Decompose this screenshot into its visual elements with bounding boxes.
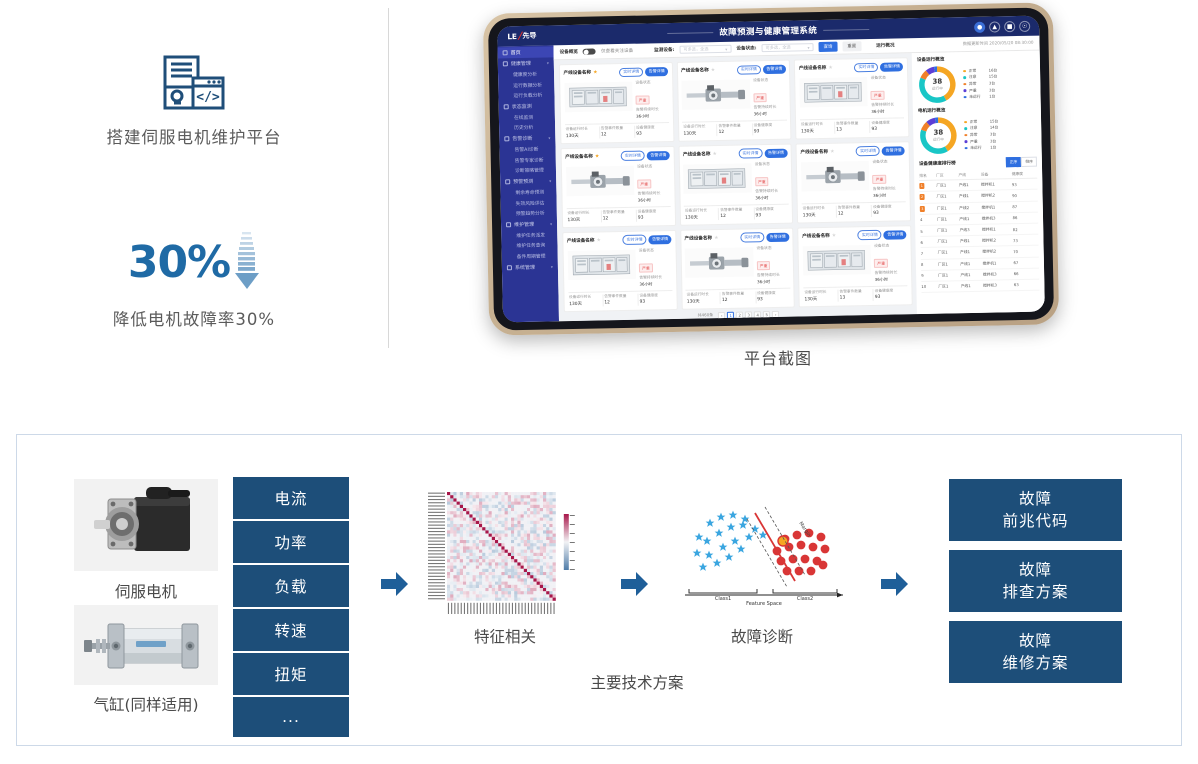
legend-value: 3台 [990, 138, 996, 144]
stat-value: 93 [754, 129, 787, 135]
legend-label: 正常 [970, 118, 987, 124]
table-row[interactable]: 10 厂区1 产线1 搅拌机3 63 [921, 279, 1039, 293]
favorite-star-icon[interactable]: ★ [714, 235, 719, 241]
svg-text:</>: </> [196, 90, 220, 105]
card-title: 产线设备名称 [565, 154, 593, 161]
health-cell: 93 [1012, 178, 1038, 190]
rank-cell: 1 [919, 180, 936, 192]
legend-dot [963, 89, 966, 92]
motor-donut-row: 38 运行中 正常 15台 注意 14台 异常 3台 严重 3台 未运行 1台 [918, 114, 1037, 156]
sidebar-label: 历史分析 [514, 124, 533, 131]
card-status: 设备状态 严重 告警持续时长 36小时 [753, 76, 787, 118]
heart-icon [503, 61, 508, 66]
control-cabinet-photo [799, 75, 868, 109]
toggle-label: 仅查看关注设备 [601, 48, 633, 55]
donut-value: 38 [933, 129, 943, 136]
sidebar-label: 状态监测 [512, 103, 532, 110]
rank-cell: 7 [921, 247, 938, 259]
stat-value: 130天 [804, 296, 837, 303]
card-title: 产线设备名称 [802, 233, 830, 240]
alarm-detail-button[interactable]: 告警详情 [882, 146, 905, 155]
device-cell: 搅拌机3 [983, 268, 1014, 280]
card-body: 设备状态 严重 告警持续时长 36小时 [685, 244, 790, 287]
rank-cell: 5 [920, 225, 937, 237]
app-body: 首页 健康管理 ▾ 健康度分析 运行数据分析 运行负载分析 [497, 36, 1044, 323]
stat-value: 130天 [569, 301, 602, 308]
legend-label: 异常 [969, 81, 986, 87]
card-title: 产线设备名称 [799, 65, 827, 72]
card-title: 产线设备名称 [567, 238, 595, 245]
sidebar-label: 预警预测 [513, 178, 533, 185]
card-stat: 设备运行时长 130天 [802, 206, 837, 219]
card-body: 设备状态 严重 告警持续时长 36小时 [683, 160, 788, 203]
ranking-tabs[interactable]: 正序 倒序 [1006, 157, 1037, 168]
legend-item: 未运行 1台 [965, 144, 1037, 152]
legend-dot [964, 96, 967, 99]
tech-pipeline-panel: 伺服电机 气缸(同样适用) 电流 [16, 434, 1182, 746]
duration-label: 告警持续时长 [754, 104, 787, 111]
home-icon[interactable]: ▲ [989, 21, 1000, 32]
donut-label: 运行中 [933, 137, 944, 142]
stat-label: 设备运行时长 [566, 127, 599, 133]
total-count: 共460条 [698, 313, 714, 319]
motor-overview-chart: 电机运行概览 38 [918, 106, 1037, 156]
device-donut-legend: 正常 16台 注意 15台 异常 3台 严重 3台 未运行 1台 [963, 66, 1036, 100]
page-1[interactable]: 1 [727, 312, 734, 319]
factory-cell: 厂区1 [937, 213, 960, 225]
favorite-star-icon[interactable]: ★ [711, 67, 716, 73]
ranking-tab-asc[interactable]: 正序 [1006, 157, 1022, 167]
card-status: 设备状态 严重 告警持续时长 36小时 [637, 163, 671, 205]
stat-label: 告警事件数量 [722, 292, 755, 298]
live-detail-button[interactable]: 实时详情 [854, 62, 878, 72]
status-badge: 严重 [757, 261, 771, 270]
favorite-star-icon[interactable]: ★ [828, 65, 833, 71]
favorite-star-icon[interactable]: ★ [830, 149, 835, 155]
wrench-icon [506, 222, 511, 227]
output-line-2: 维修方案 [1002, 652, 1068, 674]
duration-label: 告警持续时长 [638, 190, 671, 197]
duration-label: 告警持续时长 [757, 272, 790, 279]
factory-cell: 厂区1 [937, 236, 960, 248]
alarm-detail-button[interactable]: 告警详情 [648, 235, 671, 244]
live-detail-button[interactable]: 实时详情 [856, 146, 880, 156]
sidebar-label: 维护任务派发 [516, 231, 545, 239]
ranking-body: 1 厂区1 产线1 搅拌机1 932 厂区1 产线1 搅拌机2 903 厂区1 … [919, 178, 1039, 292]
stat-label: 设备健康度 [755, 207, 788, 213]
live-detail-button[interactable]: 实时详情 [740, 233, 764, 243]
control-cabinet-photo [802, 243, 871, 277]
card-header: 产线设备名称 ★ 实时详情 告警详情 [799, 62, 904, 74]
user-icon[interactable]: ● [974, 21, 985, 32]
card-stat: 告警事件数量 13 [835, 121, 870, 134]
line-cell: 产线1 [960, 247, 983, 259]
pneumatic-cylinder-caption: 气缸(同样适用) [66, 693, 226, 715]
health-cell: 73 [1013, 234, 1039, 246]
duration-value: 36小时 [754, 111, 787, 118]
chevron-down-icon: ▾ [547, 61, 549, 66]
feature-correlation-caption: 特征相关 [425, 625, 585, 647]
arrow-down-icon [234, 230, 260, 296]
card-stat: 告警事件数量 12 [837, 205, 872, 218]
device-card[interactable]: 产线设备名称 ★ 实时详情 告警详情 设备状态 严重 告警持续时长 36小时 设… [559, 62, 674, 144]
stat-label: 设备运行时长 [803, 206, 836, 212]
health-cell: 67 [1013, 257, 1039, 269]
health-cell: 66 [1014, 268, 1040, 280]
stat-label: 告警事件数量 [838, 205, 871, 211]
favorite-star-icon[interactable]: ★ [712, 151, 717, 157]
card-stat: 设备运行时长 130天 [803, 290, 838, 303]
bell-icon[interactable]: ■ [1004, 21, 1015, 32]
chevron-down-icon: ▾ [725, 46, 727, 51]
duration-value: 36小时 [873, 193, 906, 200]
chevron-down-icon: ▾ [549, 179, 551, 184]
alarm-detail-button[interactable]: 告警详情 [645, 67, 668, 76]
stat-label: 设备运行时长 [683, 125, 716, 131]
home-icon [503, 50, 508, 55]
device-card[interactable]: 产线设备名称 ★ 实时详情 告警详情 设备状态 严重 告警持续时长 36小时 设… [680, 228, 795, 310]
legend-dot [965, 147, 968, 150]
rank-value: 10 [921, 284, 926, 289]
stat-value: 12 [603, 216, 636, 222]
duration-label: 告警持续时长 [755, 188, 788, 195]
stat-label: 设备运行时长 [567, 211, 600, 217]
legend-label: 严重 [969, 87, 986, 93]
card-status: 设备状态 严重 告警持续时长 36小时 [639, 247, 673, 289]
card-stat: 设备健康度 93 [870, 121, 904, 134]
stat-label: 设备运行时长 [687, 293, 720, 299]
device-card[interactable]: 产线设备名称 ★ 实时详情 告警详情 设备状态 严重 告警持续时长 36小时 设… [676, 60, 791, 142]
chevron-down-icon: ▾ [551, 264, 553, 269]
factory-cell: 厂区1 [936, 180, 959, 192]
device-card[interactable]: 产线设备名称 ★ 实时详情 告警详情 设备状态 严重 告警持续时长 36小时 设… [794, 57, 909, 139]
alarm-detail-button[interactable]: 告警详情 [763, 65, 786, 74]
alarm-detail-button[interactable]: 告警详情 [647, 151, 670, 160]
card-stats: 设备运行时长 130天 告警事件数量 13 设备健康度 93 [800, 117, 905, 135]
card-stat: 设备健康度 93 [753, 123, 787, 136]
tablet-mockup: LE / 先导 故障预测与健康管理系统 ● ▲ ■ [478, 2, 1078, 342]
stat-value: 130天 [567, 217, 600, 224]
donut-center: 38 运行中 [918, 115, 959, 156]
live-detail-button[interactable]: 实时详情 [622, 235, 646, 245]
card-stats: 设备运行时长 130天 告警事件数量 12 设备健康度 93 [565, 122, 670, 140]
overview-pane: 设备运行概览 38 [912, 51, 1045, 315]
sidebar-label: 健康管理 [511, 60, 531, 67]
legend-value: 1台 [990, 145, 996, 151]
main-content: 产线设备名称 ★ 实时详情 告警详情 设备状态 严重 告警持续时长 36小时 设… [554, 51, 1045, 322]
stat-value: 130天 [801, 128, 834, 135]
device-cell: 搅拌机3 [983, 280, 1014, 292]
platform-stat-block: </> 搭建伺服电机维护平台 [0, 52, 388, 148]
device-donut: 38 运行中 [917, 64, 958, 105]
favorite-star-icon[interactable]: ★ [593, 70, 598, 76]
duration-value: 36小时 [638, 197, 671, 204]
duration-label: 告警持续时长 [871, 102, 904, 109]
stat-value: 12 [722, 298, 755, 304]
arrow-right-icon [881, 571, 909, 601]
sidebar-label: 首页 [511, 49, 521, 56]
stat-label: 设备健康度 [871, 121, 904, 127]
status-label: 设备状态 [872, 158, 905, 165]
donut-value: 38 [932, 78, 942, 85]
card-title: 产线设备名称 [800, 149, 828, 156]
live-detail-button[interactable]: 实时详情 [738, 149, 762, 159]
duration-value: 36小时 [639, 281, 672, 288]
legend-value: 1台 [989, 94, 995, 100]
legend-value: 15台 [989, 74, 998, 80]
line-cell: 产线1 [960, 258, 983, 270]
page-5[interactable]: 5 [763, 311, 770, 318]
favorite-star-icon[interactable]: ★ [832, 233, 837, 239]
output-line-1: 故障 [1019, 630, 1052, 652]
factory-cell: 厂区1 [938, 258, 961, 270]
status-label: 设备状态 [756, 244, 789, 251]
health-cell: 87 [1012, 201, 1038, 213]
page-prev[interactable]: ‹ [718, 312, 725, 319]
card-header: 产线设备名称 ★ 实时详情 告警详情 [681, 64, 786, 76]
page-2[interactable]: 2 [736, 312, 743, 319]
device-filter-label: 监测设备: [654, 47, 674, 53]
status-badge: 严重 [873, 175, 887, 184]
card-body: 设备状态 严重 告警持续时长 36小时 [802, 242, 907, 285]
status-label: 设备状态 [871, 74, 904, 81]
stat-label: 告警事件数量 [839, 289, 872, 295]
status-badge: 严重 [874, 259, 888, 268]
sidebar-label: 运行数据分析 [513, 81, 542, 89]
app-main: 设备概览 仅查看关注设备 监测设备: 可多选，全选 ▾ 设备状态: [553, 36, 1044, 322]
alarm-detail-button[interactable]: 告警详情 [884, 230, 907, 239]
legend-dot [964, 127, 967, 130]
page-next[interactable]: › [772, 311, 779, 318]
device-cell: 搅拌机2 [982, 235, 1013, 247]
stat-value: 93 [871, 127, 904, 133]
legend-dot [963, 83, 966, 86]
platform-caption: 搭建伺服电机维护平台 [0, 124, 388, 148]
stat-label: 告警事件数量 [836, 122, 869, 128]
rank-cell: 10 [921, 281, 938, 293]
page-3[interactable]: 3 [745, 311, 752, 318]
left-stats-column: </> 搭建伺服电机维护平台 30% [0, 0, 388, 360]
status-filter-value: 可多选，全选 [766, 45, 791, 52]
legend-label: 未运行 [969, 94, 986, 100]
card-body: 设备状态 严重 告警持续时长 36小时 [564, 79, 669, 122]
stat-value: 93 [875, 295, 908, 301]
card-status: 设备状态 严重 告警持续时长 36小时 [756, 244, 790, 286]
stat-label: 设备运行时长 [804, 290, 837, 296]
ranking-col-header: 设备 [981, 169, 1012, 179]
chevron-down-icon: ▾ [550, 221, 552, 226]
duration-value: 36小时 [871, 109, 904, 116]
rank-value: 8 [921, 262, 924, 267]
device-cards-grid: 产线设备名称 ★ 实时详情 告警详情 设备状态 严重 告警持续时长 36小时 设… [559, 57, 913, 312]
arrow-right-icon [621, 571, 649, 601]
status-badge: 严重 [871, 91, 885, 100]
metric-caption: 降低电机故障率30% [0, 306, 388, 330]
alarm-detail-button[interactable]: 告警详情 [764, 149, 787, 158]
duration-label: 告警持续时长 [873, 186, 906, 193]
output-line-2: 前兆代码 [1002, 510, 1068, 532]
stat-label: 设备健康度 [636, 126, 669, 132]
stat-label: 设备健康度 [873, 205, 906, 211]
device-card[interactable]: 产线设备名称 ★ 实时详情 告警详情 设备状态 严重 告警持续时长 36小时 设… [561, 146, 676, 228]
device-cell: 搅拌机1 [981, 201, 1012, 213]
card-header: 产线设备名称 ★ 实时详情 告警详情 [563, 67, 668, 79]
update-time: 数据更新时间 2020/05/20 08:30:00 [963, 40, 1034, 47]
reset-button[interactable]: 重置 [842, 42, 861, 52]
app-title: 故障预测与健康管理系统 [719, 24, 817, 38]
alert-icon [504, 137, 509, 142]
card-stats: 设备运行时长 130天 告警事件数量 12 设备健康度 93 [566, 206, 671, 224]
card-stat: 告警事件数量 13 [838, 289, 873, 302]
card-stats: 设备运行时长 130天 告警事件数量 12 设备健康度 93 [802, 201, 907, 219]
device-overview-title: 设备运行概览 [917, 55, 1035, 63]
legend-dot [964, 121, 967, 124]
vertical-divider [388, 8, 389, 348]
duration-label: 告警持续时长 [875, 270, 908, 277]
card-body: 设备状态 严重 告警持续时长 36小时 [799, 74, 904, 117]
stat-label: 设备运行时长 [569, 295, 602, 301]
output-line-2: 排查方案 [1002, 581, 1068, 603]
sidebar-label: 剩余寿命预测 [515, 189, 544, 197]
donut-label: 运行中 [932, 86, 943, 91]
stat-value: 12 [601, 132, 634, 138]
legend-label: 异常 [970, 132, 987, 138]
gear-icon[interactable]: ☉ [1019, 20, 1030, 31]
sidebar-label: 备件周期管理 [517, 253, 546, 261]
stat-value: 93 [757, 297, 790, 303]
sidebar-label: 告警专家诊断 [515, 156, 544, 164]
live-detail-button[interactable]: 实时详情 [619, 67, 643, 77]
health-cell: 63 [1014, 279, 1040, 291]
status-filter-select[interactable]: 可多选，全选 ▾ [761, 43, 813, 52]
card-header: 产线设备名称 ★ 实时详情 告警详情 [565, 151, 670, 163]
metric-value: 30% [128, 241, 230, 285]
device-cell: 搅拌机1 [982, 257, 1013, 269]
rank-value: 7 [921, 251, 924, 256]
servo-motor-caption: 伺服电机 [66, 580, 226, 602]
device-card[interactable]: 产线设备名称 ★ 实时详情 告警详情 设备状态 严重 告警持续时长 36小时 设… [798, 225, 913, 307]
card-status: 设备状态 严重 告警持续时长 36小时 [635, 79, 669, 121]
legend-value: 3台 [990, 131, 996, 137]
device-filter-value: 可多选，全选 [683, 46, 708, 53]
stat-label: 告警事件数量 [601, 126, 634, 132]
ranking-tab-desc[interactable]: 倒序 [1021, 157, 1037, 167]
favorite-star-icon[interactable]: ★ [595, 154, 600, 160]
card-body: 设备状态 严重 告警持续时长 36小时 [565, 163, 670, 206]
tablet-frame: LE / 先导 故障预测与健康管理系统 ● ▲ ■ [483, 2, 1059, 335]
servo-motor-photo [801, 159, 870, 193]
output-box-troubleshoot-plan: 故障 排查方案 [949, 550, 1122, 612]
ranking-col-header: 产线 [958, 170, 981, 180]
live-detail-button[interactable]: 实时详情 [858, 230, 882, 240]
alarm-detail-button[interactable]: 告警详情 [766, 233, 789, 242]
card-title: 产线设备名称 [681, 68, 709, 75]
rank-cell: 4 [920, 214, 937, 226]
line-cell: 产线1 [959, 191, 982, 203]
card-body: 设备状态 严重 告警持续时长 36小时 [567, 247, 672, 290]
live-detail-button[interactable]: 实时详情 [621, 151, 645, 161]
servo-motor-photo [681, 77, 750, 111]
stat-value: 93 [640, 299, 673, 305]
card-stats: 设备运行时长 130天 告警事件数量 12 设备健康度 93 [568, 290, 673, 308]
metric-value-row: 30% [0, 230, 388, 296]
servo-motor-photo [685, 245, 754, 279]
stat-label: 告警事件数量 [604, 294, 637, 300]
device-card[interactable]: 产线设备名称 ★ 实时详情 告警详情 设备状态 严重 告警持续时长 36小时 设… [796, 141, 911, 223]
search-button[interactable]: 查询 [818, 42, 837, 52]
card-title: 产线设备名称 [563, 70, 591, 77]
card-stat: 设备运行时长 130天 [568, 295, 603, 308]
stat-value: 130天 [566, 133, 599, 140]
card-stat: 告警事件数量 12 [600, 126, 635, 139]
ranking-table: 排名厂区产线设备健康度 1 厂区1 产线1 搅拌机1 932 厂区1 产线1 搅… [919, 169, 1039, 293]
medal-icon: 1 [919, 183, 924, 189]
app-sidebar[interactable]: 首页 健康管理 ▾ 健康度分析 运行数据分析 运行负载分析 [497, 45, 559, 322]
screenshot-caption: 平台截图 [478, 345, 1078, 369]
line-cell: 产线1 [959, 213, 982, 225]
sidebar-label: 维护管理 [514, 221, 534, 228]
sidebar-group-system[interactable]: 系统管理 ▾ [502, 261, 558, 273]
favorites-toggle[interactable] [583, 48, 596, 55]
stat-label: 设备运行时长 [685, 209, 718, 215]
sidebar-label: 告警诊断 [512, 135, 532, 142]
legend-dot [964, 140, 967, 143]
favorite-star-icon[interactable]: ★ [596, 238, 601, 244]
classification-scatter: MarginClass1Class2Feature Space [677, 497, 847, 607]
card-stats: 设备运行时长 130天 告警事件数量 13 设备健康度 93 [803, 285, 908, 303]
status-label: 设备状态 [753, 76, 786, 83]
rank-value: 5 [920, 228, 923, 233]
status-badge: 严重 [636, 96, 650, 105]
device-card[interactable]: 产线设备名称 ★ 实时详情 告警详情 设备状态 严重 告警持续时长 36小时 设… [562, 230, 677, 312]
stat-value: 13 [836, 128, 869, 134]
device-donut-row: 38 运行中 正常 16台 注意 15台 异常 3台 严重 3台 未运行 1台 [917, 63, 1036, 105]
factory-cell: 厂区1 [938, 281, 961, 293]
device-filter-select[interactable]: 可多选，全选 ▾ [679, 45, 731, 54]
duration-value: 36小时 [757, 279, 790, 286]
arrow-right-icon [381, 571, 409, 601]
health-cell: 70 [1013, 245, 1039, 257]
status-label: 设备状态 [637, 163, 670, 170]
card-body: 设备状态 严重 告警持续时长 36小时 [801, 158, 906, 201]
card-stat: 设备健康度 93 [637, 209, 671, 222]
line-cell: 产线3 [959, 224, 982, 236]
card-stat: 设备健康度 93 [638, 293, 672, 306]
card-stats: 设备运行时长 130天 告警事件数量 12 设备健康度 93 [686, 288, 791, 306]
status-badge: 严重 [753, 93, 767, 102]
card-stat: 设备运行时长 130天 [686, 292, 721, 305]
rank-cell: 3 [920, 203, 937, 215]
live-detail-button[interactable]: 实时详情 [737, 65, 761, 75]
card-stat: 设备健康度 93 [874, 289, 908, 302]
ranking-header: 设备健康度排行榜 正序 倒序 [919, 157, 1037, 169]
output-line-1: 故障 [1019, 488, 1052, 510]
health-cell: 82 [1013, 223, 1039, 235]
alarm-detail-button[interactable]: 告警详情 [880, 62, 903, 71]
legend-value: 3台 [989, 80, 995, 86]
page-4[interactable]: 4 [754, 311, 761, 318]
status-label: 设备状态 [755, 160, 788, 167]
health-cell: 90 [1012, 190, 1038, 202]
device-card[interactable]: 产线设备名称 ★ 实时详情 告警详情 设备状态 严重 告警持续时长 36小时 设… [678, 144, 793, 226]
card-stats: 设备运行时长 130天 告警事件数量 12 设备健康度 93 [682, 120, 787, 138]
health-cell: 86 [1012, 212, 1038, 224]
card-stat: 设备健康度 93 [754, 207, 788, 220]
status-badge: 严重 [637, 180, 651, 189]
stat-value: 130天 [683, 131, 716, 138]
legend-value: 14台 [990, 125, 999, 131]
rank-cell: 8 [921, 259, 938, 271]
